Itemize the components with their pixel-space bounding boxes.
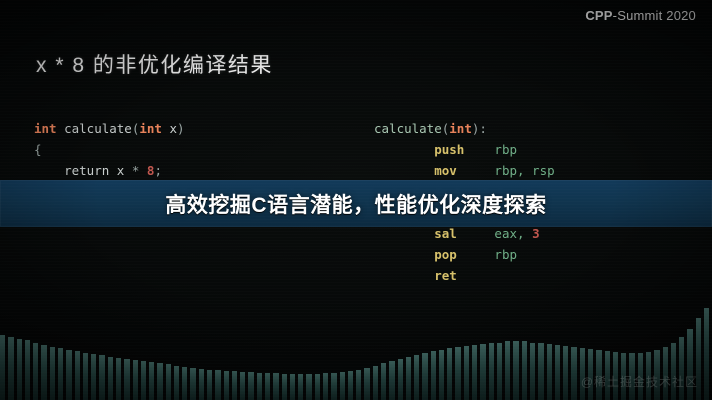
code-token-plain: calculate bbox=[57, 121, 132, 136]
asm-code-line: push rbp bbox=[374, 139, 660, 160]
logo-bold-text: CPP bbox=[585, 8, 612, 23]
code-token-instr: push bbox=[374, 142, 464, 157]
code-token-instr: pop bbox=[374, 247, 457, 262]
code-token-reg: rbp bbox=[457, 247, 517, 262]
code-token-punct: * bbox=[132, 163, 147, 178]
code-token-instr: mov bbox=[374, 163, 457, 178]
asm-code-line: pop rbp bbox=[374, 244, 660, 265]
code-token-reg: rbp bbox=[464, 142, 517, 157]
c-code-line: { bbox=[34, 139, 185, 160]
code-token-num: 3 bbox=[532, 226, 540, 241]
conference-logo: CPP-Summit 2020 bbox=[585, 8, 696, 23]
c-code-line: return x * 8; bbox=[34, 160, 185, 181]
logo-rest-text: -Summit 2020 bbox=[613, 8, 696, 23]
code-token-kw: int bbox=[449, 121, 472, 136]
code-token-plain: x bbox=[162, 121, 177, 136]
slide-screenshot: CPP-Summit 2020 x * 8 的非优化编译结果 int calcu… bbox=[0, 0, 712, 400]
asm-code-line: ret bbox=[374, 265, 660, 286]
code-token-instr: ret bbox=[374, 268, 457, 283]
code-token-instr: sal bbox=[374, 226, 457, 241]
code-token-reg: eax, bbox=[457, 226, 532, 241]
code-token-reg: rbp, rsp bbox=[457, 163, 555, 178]
watermark: @稀土掘金技术社区 bbox=[581, 373, 698, 390]
code-token-punct: ; bbox=[154, 163, 162, 178]
banner-headline: 高效挖掘C语言潜能，性能优化深度探索 bbox=[165, 189, 546, 219]
overlay-banner: 高效挖掘C语言潜能，性能优化深度探索 bbox=[0, 180, 712, 227]
asm-code-line: mov rbp, rsp bbox=[374, 160, 660, 181]
asm-code-line: calculate(int): bbox=[374, 118, 660, 139]
code-token-punct: ): bbox=[472, 121, 487, 136]
code-token-label: calculate bbox=[374, 121, 442, 136]
c-code-line: int calculate(int x) bbox=[34, 118, 185, 139]
slide-title: x * 8 的非优化编译结果 bbox=[36, 49, 273, 79]
code-token-plain: return x bbox=[34, 163, 132, 178]
code-token-kw: int bbox=[34, 121, 57, 136]
code-token-punct: ) bbox=[177, 121, 185, 136]
code-token-punct: { bbox=[34, 142, 42, 157]
code-token-kw: int bbox=[139, 121, 162, 136]
